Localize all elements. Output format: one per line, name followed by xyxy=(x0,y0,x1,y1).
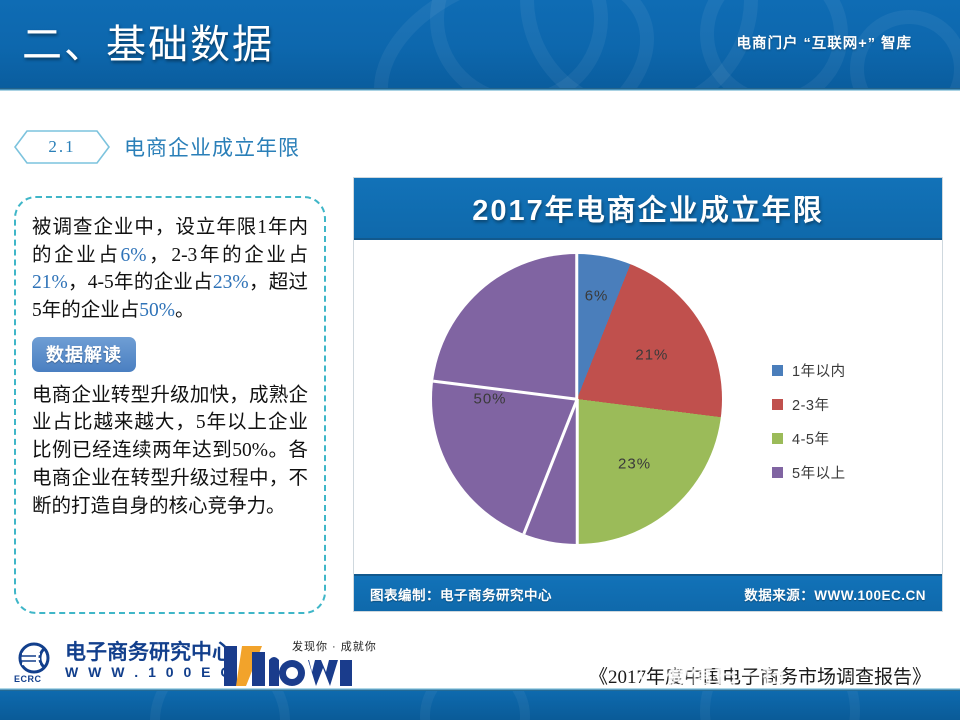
legend-swatch-icon xyxy=(772,433,783,444)
footer-swirl-decoration xyxy=(420,691,530,720)
footer-swirl-decoration xyxy=(150,691,290,720)
chart-footer-bar: 图表编制：电子商务研究中心 数据来源：WWW.100EC.CN xyxy=(354,574,942,611)
summary-highlight-value: 6% xyxy=(121,245,147,266)
summary-paragraph-1: 被调查企业中，设立年限1年内的企业占6%，2-3年的企业占21%，4-5年的企业… xyxy=(32,214,308,325)
chart-legend: 1年以内2-3年4-5年5年以上 xyxy=(772,360,846,496)
summary-highlight-value: 50% xyxy=(139,300,175,321)
chart-panel: 2017年电商企业成立年限 6%21%23%50% 1年以内2-3年4-5年5年… xyxy=(353,177,943,612)
chart-source: 数据来源：WWW.100EC.CN xyxy=(744,584,926,604)
vnow-logo: 发现你 · 成就你 xyxy=(222,638,357,690)
legend-item: 2-3年 xyxy=(772,394,846,415)
section-number-badge: 2.1 xyxy=(14,130,110,164)
ecrc-abbreviation: ECRC xyxy=(14,674,42,684)
chart-credit: 图表编制：电子商务研究中心 xyxy=(370,584,552,604)
legend-item: 5年以上 xyxy=(772,462,846,483)
pie-slice-label: 6% xyxy=(585,288,609,305)
pie-slice-label: 23% xyxy=(618,456,651,473)
data-interpretation-badge: 数据解读 xyxy=(32,337,136,372)
summary-paragraph-2: 电商企业转型升级加快，成熟企业占比越来越大，5年以上企业比例已经连续两年达到50… xyxy=(32,382,308,520)
summary-text-run: ，4-5年的企业占 xyxy=(68,272,213,293)
summary-text-run: ，2-3年的企业占 xyxy=(147,245,308,266)
legend-label: 4-5年 xyxy=(792,428,829,449)
page-title: 二、基础数据 xyxy=(22,12,274,70)
chart-title: 2017年电商企业成立年限 xyxy=(472,187,824,229)
header-swirl-decoration xyxy=(348,0,680,88)
footer-band xyxy=(0,691,960,720)
section-number: 2.1 xyxy=(48,137,75,157)
legend-label: 2-3年 xyxy=(792,394,829,415)
section-title: 电商企业成立年限 xyxy=(124,132,300,162)
header-underline xyxy=(0,88,960,91)
vnow-slogan: 发现你 · 成就你 xyxy=(292,638,377,654)
summary-highlight-value: 21% xyxy=(32,272,68,293)
report-title: 《2017年度中国电子商务市场调查报告》 xyxy=(560,662,960,689)
legend-item: 1年以内 xyxy=(772,360,846,381)
header-tagline: 电商门户 “互联网+” 智库 xyxy=(736,32,912,53)
slide-header: 二、基础数据 电商门户 “互联网+” 智库 xyxy=(0,0,960,88)
legend-label: 5年以上 xyxy=(792,462,846,483)
pie-slice-separator xyxy=(576,399,579,544)
legend-swatch-icon xyxy=(772,365,783,376)
chart-title-bar: 2017年电商企业成立年限 xyxy=(354,178,942,240)
legend-swatch-icon xyxy=(772,399,783,410)
summary-highlight-value: 23% xyxy=(213,272,249,293)
pie-slice-label: 21% xyxy=(635,346,668,363)
legend-item: 4-5年 xyxy=(772,428,846,449)
chart-body: 6%21%23%50% 1年以内2-3年4-5年5年以上 xyxy=(354,240,942,574)
pie-chart: 6%21%23%50% xyxy=(432,254,722,544)
slide-root: 二、基础数据 电商门户 “互联网+” 智库 2.1 电商企业成立年限 被调查企业… xyxy=(0,0,960,720)
summary-textbox: 被调查企业中，设立年限1年内的企业占6%，2-3年的企业占21%，4-5年的企业… xyxy=(14,196,326,614)
section-label-row: 2.1 电商企业成立年限 xyxy=(14,130,300,164)
legend-swatch-icon xyxy=(772,467,783,478)
pie-slice-separator xyxy=(576,254,579,399)
ecrc-mark-icon: ECRC xyxy=(14,640,58,682)
legend-label: 1年以内 xyxy=(792,360,846,381)
footer-swirl-decoration xyxy=(700,691,860,720)
summary-text-run: 。 xyxy=(175,300,195,321)
pie-slice-label: 50% xyxy=(473,391,506,408)
